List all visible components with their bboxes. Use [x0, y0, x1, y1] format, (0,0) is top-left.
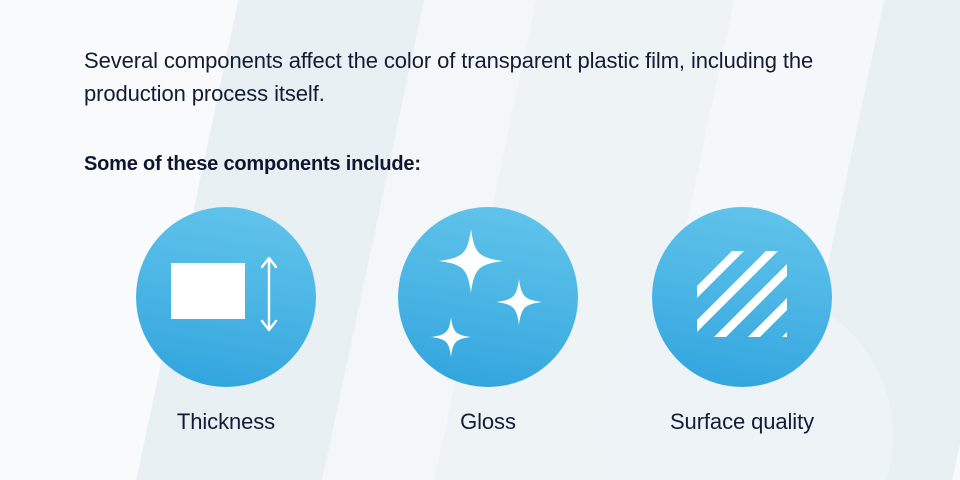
components-row: Thickness Gloss: [0, 207, 960, 437]
intro-paragraph: Several components affect the color of t…: [84, 44, 814, 110]
hatched-square-icon: [652, 207, 832, 387]
component-label: Thickness: [96, 408, 356, 436]
icon-circle-thickness: [136, 207, 316, 387]
icon-circle-gloss: [398, 207, 578, 387]
icon-circle-surface-quality: [652, 207, 832, 387]
sparkle-icon: [398, 207, 578, 387]
subhead-text: Some of these components include:: [84, 110, 844, 178]
component-label: Gloss: [358, 408, 618, 436]
component-item-gloss: Gloss: [358, 207, 618, 436]
component-label: Surface quality: [612, 408, 872, 436]
infographic-canvas: Several components affect the color of t…: [0, 0, 960, 480]
text-block: Several components affect the color of t…: [84, 44, 844, 178]
component-item-surface-quality: Surface quality: [612, 207, 872, 436]
component-item-thickness: Thickness: [96, 207, 356, 436]
thickness-icon: [136, 207, 316, 387]
